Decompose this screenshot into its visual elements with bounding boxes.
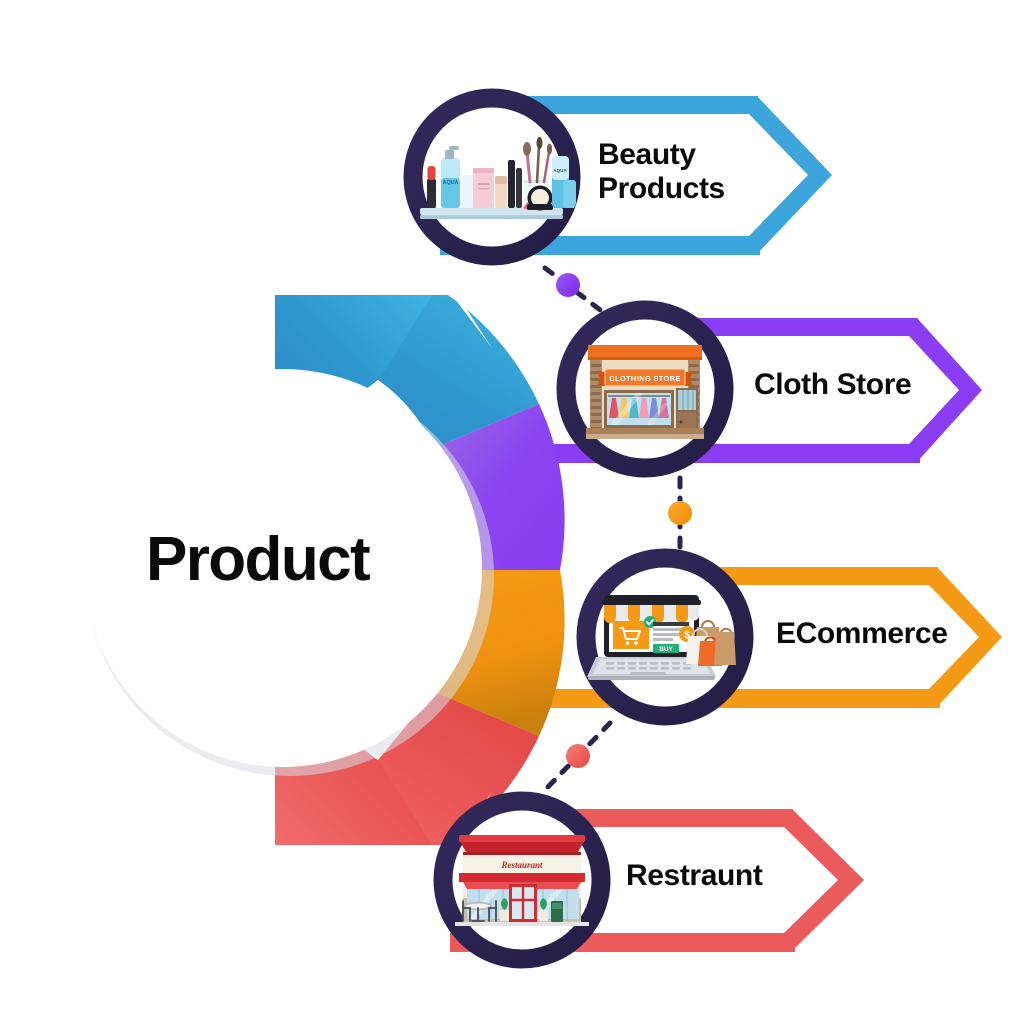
svg-text:AQUA: AQUA	[553, 168, 567, 173]
node-cloth[interactable]: CLOTHING STORE	[557, 301, 733, 477]
restraunt-icon: Restaurant	[455, 835, 589, 926]
node-ecommerce[interactable]: $ BUY	[577, 549, 753, 725]
cloth-store-icon: CLOTHING STORE	[586, 345, 704, 439]
svg-text:BUY: BUY	[659, 646, 673, 653]
connector-dot-orange	[668, 501, 692, 525]
connector-dot-purple	[556, 273, 580, 297]
label-ecommerce: ECommerce	[776, 617, 947, 651]
infographic-canvas: AQUA	[0, 0, 1024, 1024]
svg-text:Restaurant: Restaurant	[500, 860, 543, 870]
node-beauty[interactable]: AQUA	[404, 89, 580, 265]
label-beauty-products: Beauty Products	[598, 138, 725, 205]
center-label: Product	[146, 524, 369, 595]
label-restraunt: Restraunt	[626, 859, 762, 893]
diagram-main: AQUA	[0, 0, 1024, 1024]
node-restraunt[interactable]: Restaurant	[434, 792, 610, 968]
svg-text:CLOTHING STORE: CLOTHING STORE	[609, 374, 681, 383]
banner-top-line-beauty	[500, 96, 758, 100]
label-cloth-store: Cloth Store	[754, 368, 911, 402]
connector-dot-red	[566, 744, 590, 768]
svg-text:AQUA: AQUA	[443, 180, 459, 186]
